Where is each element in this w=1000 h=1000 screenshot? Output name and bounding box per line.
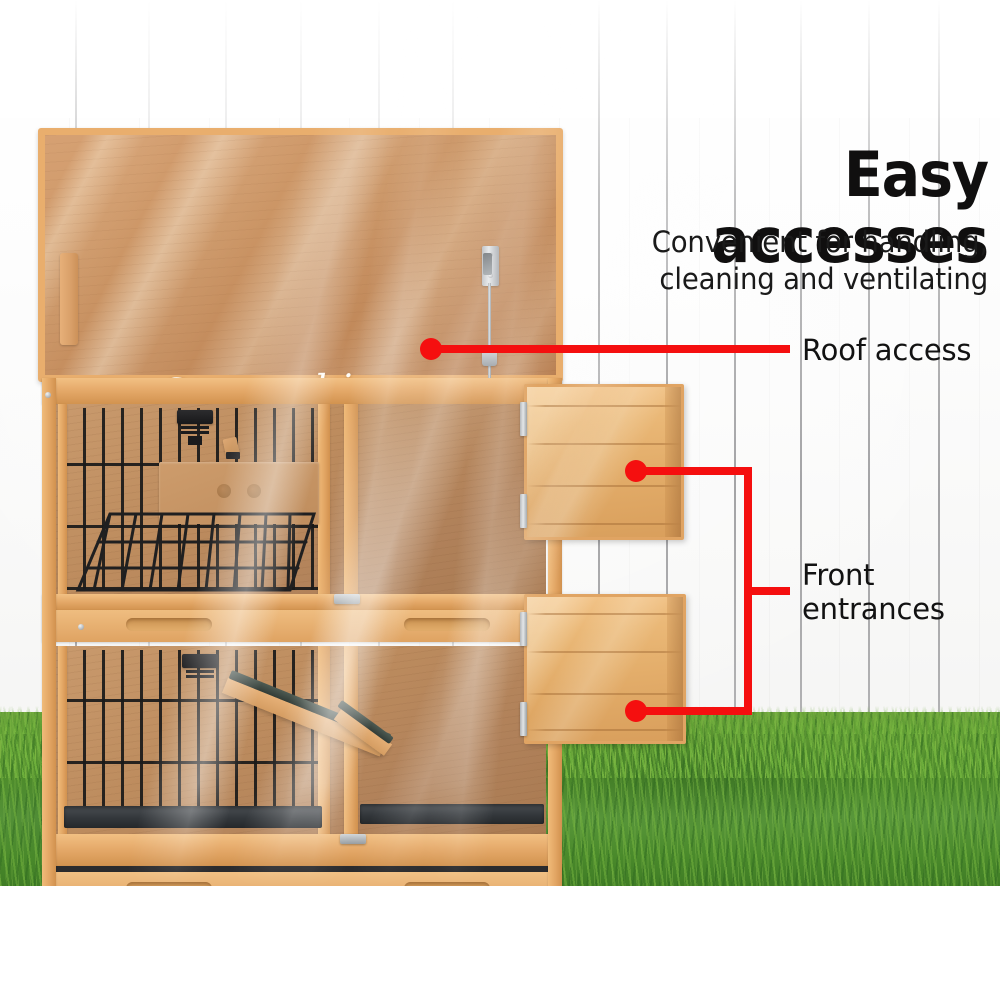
screw bbox=[45, 392, 51, 398]
callout-label-front-line-2: entrances bbox=[802, 592, 945, 626]
lower-door-hinge bbox=[520, 702, 527, 736]
divider-post-upper bbox=[344, 404, 358, 594]
vent-hole bbox=[217, 484, 231, 498]
upper-door-latch[interactable] bbox=[177, 410, 213, 424]
vent-hole bbox=[247, 484, 261, 498]
background-bottom-white bbox=[0, 886, 1000, 1000]
bottom-rail bbox=[42, 834, 562, 866]
lower-front-door[interactable] bbox=[524, 594, 686, 744]
subtitle-line-2: cleaning and ventilating bbox=[570, 261, 988, 298]
page-subtitle: Convenient for handling, cleaning and ve… bbox=[570, 224, 988, 298]
wire-hay-rack bbox=[66, 508, 321, 596]
mid-tray-handle[interactable] bbox=[126, 618, 212, 631]
screw bbox=[78, 624, 84, 630]
callout-label-front-line-1: Front bbox=[802, 558, 945, 592]
latch-strip bbox=[186, 675, 214, 678]
subtitle-line-1: Convenient for handling, bbox=[570, 224, 988, 261]
top-rail bbox=[42, 378, 562, 404]
hutch-body bbox=[42, 378, 562, 918]
hinge-slot bbox=[483, 253, 492, 275]
lower-door-hinge bbox=[520, 612, 527, 646]
background-top-fade bbox=[0, 0, 1000, 118]
mid-shelf-edge bbox=[42, 594, 562, 610]
latch-strip bbox=[181, 431, 209, 434]
latch-strip bbox=[186, 670, 214, 673]
corner-post-left bbox=[42, 378, 56, 906]
callout-label-roof-access: Roof access bbox=[802, 333, 971, 367]
latch-strip bbox=[188, 436, 202, 445]
scene-root: Strong hinges bbox=[0, 0, 1000, 1000]
lower-door-latch[interactable] bbox=[182, 654, 218, 668]
callout-label-front-entrances: Front entrances bbox=[802, 558, 945, 626]
mid-hinge bbox=[334, 594, 360, 604]
roof-lid-handle[interactable] bbox=[60, 253, 78, 345]
upper-door-hinge bbox=[520, 402, 527, 436]
hinge-rod-bracket bbox=[482, 350, 497, 366]
pull-out-tray-left[interactable] bbox=[64, 806, 322, 828]
bottom-hinge bbox=[340, 834, 366, 844]
rabbit-hutch: Strong hinges bbox=[16, 128, 616, 868]
upper-door-hinge bbox=[520, 494, 527, 528]
latch-strip bbox=[181, 426, 209, 429]
mid-tray-handle[interactable] bbox=[404, 618, 490, 631]
upper-front-door[interactable] bbox=[524, 384, 684, 540]
interior-clip-base bbox=[226, 452, 240, 459]
pull-out-tray-right[interactable] bbox=[360, 804, 544, 824]
roof-lid-grain bbox=[45, 135, 556, 375]
